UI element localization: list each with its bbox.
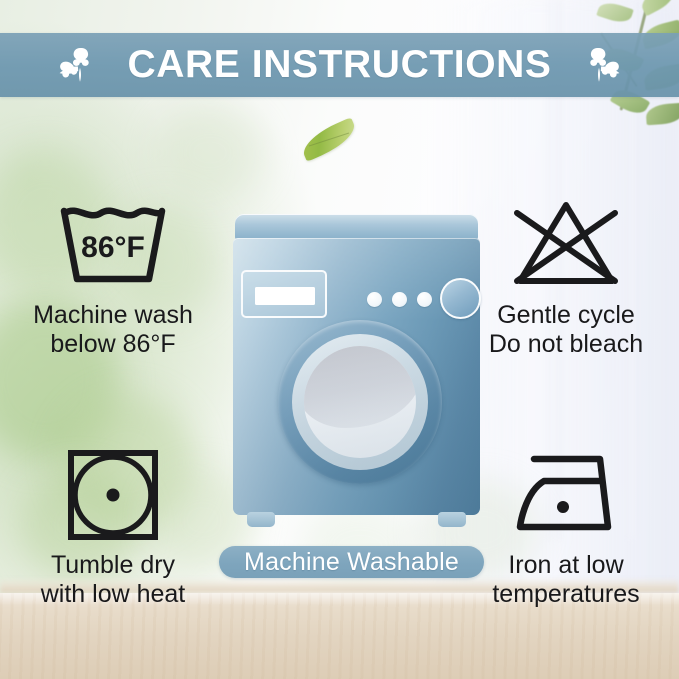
fleur-de-lis-icon — [568, 42, 630, 88]
care-caption-line-2: below 86°F — [33, 330, 193, 359]
plant-leaf — [596, 0, 634, 26]
care-caption-line-2: temperatures — [492, 580, 639, 609]
banner: CARE INSTRUCTIONS — [0, 33, 679, 97]
washer-program-knob — [440, 278, 481, 319]
washer-door-ring — [292, 334, 428, 470]
washer-indicator-dot — [367, 292, 382, 307]
machine-washable-label: Machine Washable — [244, 548, 459, 577]
washer-door — [278, 320, 442, 484]
washing-machine-illustration — [233, 214, 480, 530]
washer-foot — [247, 512, 275, 527]
care-caption-line-2: with low heat — [41, 580, 186, 609]
banner-title: CARE INSTRUCTIONS — [127, 43, 551, 87]
care-caption-line-1: Machine wash — [33, 301, 193, 330]
wash-temperature-label: 86°F — [81, 231, 145, 264]
plant-leaf — [645, 103, 679, 126]
washer-indicator-dot — [392, 292, 407, 307]
washer-indicator-dot — [417, 292, 432, 307]
tumble-dry-one-dot-icon — [51, 445, 175, 545]
care-caption: Machine wash below 86°F — [33, 301, 193, 358]
washer-display-panel — [241, 270, 327, 318]
care-caption-line-1: Gentle cycle — [489, 301, 643, 330]
fleur-de-lis-icon — [49, 42, 111, 88]
care-caption: Gentle cycle Do not bleach — [489, 301, 643, 358]
care-caption-line-1: Iron at low — [492, 551, 639, 580]
washer-body — [233, 238, 480, 515]
triangle-crossed-out-icon — [504, 195, 628, 295]
care-caption-line-1: Tumble dry — [41, 551, 186, 580]
washer-top-lid — [235, 214, 478, 240]
bokeh-blob — [155, 105, 265, 200]
washer-display-screen — [255, 287, 315, 305]
care-caption-line-2: Do not bleach — [489, 330, 643, 359]
care-instruction-machine-wash: 86°F Machine wash below 86°F — [8, 195, 218, 358]
care-instruction-do-not-bleach: Gentle cycle Do not bleach — [461, 195, 671, 358]
washer-door-reflection — [304, 346, 416, 428]
wash-tub-icon: 86°F — [51, 195, 175, 295]
care-caption: Iron at low temperatures — [492, 551, 639, 608]
iron-one-dot-icon — [504, 445, 628, 545]
washer-door-glass — [304, 346, 416, 458]
care-instruction-iron-low: Iron at low temperatures — [461, 445, 671, 608]
washer-foot — [438, 512, 466, 527]
care-instruction-tumble-dry: Tumble dry with low heat — [8, 445, 218, 608]
care-caption: Tumble dry with low heat — [41, 551, 186, 608]
machine-washable-badge: Machine Washable — [219, 546, 484, 578]
